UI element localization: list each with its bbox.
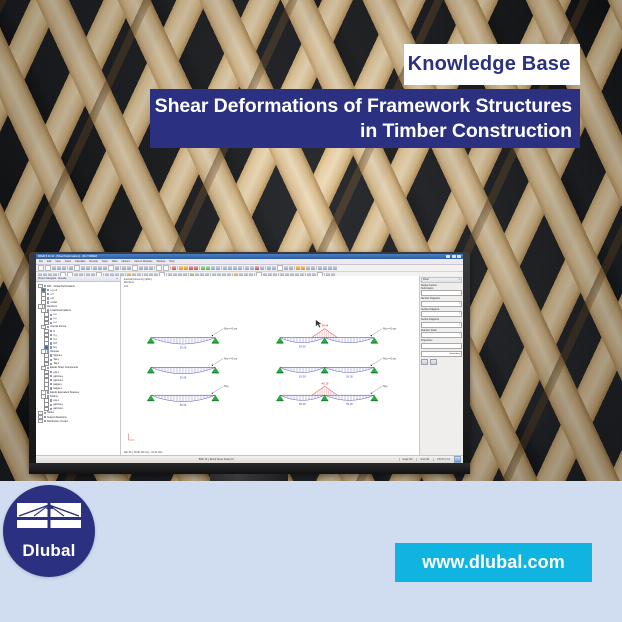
navigator-node-label: u-z bbox=[53, 321, 56, 324]
poster-root: Knowledge Base Shear Deformations of Fra… bbox=[0, 0, 622, 622]
leader-dot bbox=[212, 335, 213, 336]
navigator-node-label: u-total bbox=[50, 301, 57, 304]
support-base bbox=[147, 400, 154, 401]
panel-group: Projections bbox=[421, 340, 462, 349]
toolbar-icon-36[interactable] bbox=[211, 266, 215, 270]
navigator-node-label: Tau-y bbox=[53, 358, 59, 361]
toolbar-icon-6[interactable] bbox=[69, 266, 73, 270]
navigator-node-label: M-y bbox=[53, 346, 57, 349]
navigator-node-label: eps-x bbox=[53, 371, 59, 374]
tree-checkbox[interactable] bbox=[44, 407, 49, 412]
moment-value-label: 59.38 bbox=[346, 402, 353, 406]
toolbar-separator bbox=[243, 266, 244, 270]
moment-value-label: 59.38 bbox=[346, 374, 353, 378]
results-panel-groups[interactable]: Display FactorsDeformationMember Diagram… bbox=[421, 283, 462, 357]
navigator-node-label: V-z bbox=[53, 338, 56, 341]
work-area-scale-note: Max M-y: 59.38, Min M-y: -34.44 kNm bbox=[124, 452, 162, 454]
toolbar-icon-white-25[interactable] bbox=[163, 265, 169, 271]
toolbar-icon-57[interactable] bbox=[306, 266, 310, 270]
support-base bbox=[276, 372, 283, 373]
results-panel[interactable]: Panel × Display FactorsDeformationMember… bbox=[419, 276, 463, 456]
tree-item-icon bbox=[50, 338, 52, 340]
page-title: Shear Deformations of Framework Structur… bbox=[150, 89, 580, 148]
dlubal-logo-text: Dlubal bbox=[3, 541, 95, 561]
diagram-label: M-y bbox=[224, 384, 229, 388]
leader-line bbox=[371, 358, 382, 365]
app-body: Project Navigator - Results ▪▪ -RF1 - Gl… bbox=[36, 276, 463, 456]
leader-dot bbox=[371, 335, 372, 336]
panel-group: Smoothing bbox=[421, 351, 462, 357]
toolbar-icon-white-0[interactable] bbox=[38, 265, 44, 271]
toolbar-icon-13[interactable] bbox=[103, 266, 107, 270]
moment-value-label: 59.38 bbox=[180, 375, 187, 379]
navigator-node-label: gamma-z bbox=[53, 407, 63, 410]
navigator-node-label: Members bbox=[47, 305, 57, 308]
navigator-node-label: kappa-y bbox=[53, 383, 62, 386]
diagram-row: 59.38M-y = 0 cm-34.4459.38M-y = 0 cm bbox=[147, 324, 396, 350]
navigator-node-label: u-x bbox=[53, 313, 56, 316]
toolbar-icon-orange-56[interactable] bbox=[301, 266, 305, 270]
results-panel-title: Panel bbox=[423, 279, 429, 281]
moment-value-label: 59.38 bbox=[299, 402, 306, 406]
tree-item-icon bbox=[50, 387, 52, 389]
toolbar-icon-15[interactable] bbox=[115, 266, 119, 270]
tree-item-icon bbox=[50, 322, 52, 324]
status-cell-0: Snap ON bbox=[399, 458, 413, 461]
leader-line bbox=[371, 386, 382, 393]
toolbar-separator bbox=[170, 266, 171, 270]
tree-item-icon bbox=[50, 314, 52, 316]
toolbar-icon-white-24[interactable] bbox=[156, 265, 162, 271]
toolbar-separator bbox=[316, 266, 317, 270]
panel-group-field[interactable]: 1 bbox=[421, 322, 462, 328]
support-base bbox=[276, 400, 283, 401]
toolbar-icon-white-19[interactable] bbox=[132, 265, 138, 271]
tree-item-icon bbox=[50, 408, 52, 410]
menu-item-view[interactable]: View bbox=[55, 260, 60, 263]
navigator-node-label: u | u-X bbox=[50, 289, 57, 292]
toolbar-icon-61[interactable] bbox=[323, 266, 327, 270]
support-base bbox=[371, 400, 378, 401]
navigator-node-label: Strains bbox=[50, 395, 57, 398]
tree-item-icon bbox=[44, 412, 46, 414]
page-title-line-1: Shear Deformations of Framework Structur… bbox=[155, 94, 572, 119]
rfem-application: RFEM 5.31.01 - [Shear Deformations] - [R… bbox=[36, 254, 463, 463]
moment-diagrams: 59.38M-y = 0 cm-34.4459.38M-y = 0 cm59.3… bbox=[121, 276, 419, 425]
navigator-node-label: RF1 - Global Deformations bbox=[47, 285, 75, 288]
navigator-node-label: Local Deformations bbox=[50, 309, 71, 312]
tree-item-icon bbox=[50, 399, 52, 401]
menu-item-file[interactable]: File bbox=[39, 260, 43, 263]
status-bar: BMF: M-y [kNm] Shear Scale 0.0 Snap ON G… bbox=[36, 455, 463, 463]
navigator-node-label: Elastic Strain Components bbox=[50, 366, 78, 369]
navigator-node-label: gamma-y bbox=[53, 375, 63, 378]
toolbar-icon-18[interactable] bbox=[127, 266, 131, 270]
menu-item-help[interactable]: Help bbox=[169, 260, 174, 263]
toolbar-icon-4[interactable] bbox=[62, 266, 66, 270]
tree-item-icon bbox=[50, 379, 52, 381]
panel-group: Display FactorsDeformation bbox=[421, 285, 462, 296]
navigator-node[interactable]: -Distribution of Load bbox=[38, 419, 119, 423]
knowledge-base-label: Knowledge Base bbox=[408, 53, 571, 76]
tree-item-icon bbox=[50, 346, 52, 348]
moment-value-label: 59.38 bbox=[299, 374, 306, 378]
work-area[interactable]: Internal Forces M-y [kNm] Members LC1 59… bbox=[121, 276, 419, 456]
toolbar-icon-white-14[interactable] bbox=[108, 265, 114, 271]
window-controls[interactable] bbox=[446, 255, 461, 258]
support-base bbox=[321, 372, 328, 373]
leader-dot bbox=[371, 365, 372, 366]
toolbar-icon-orange-30[interactable] bbox=[184, 266, 188, 270]
leader-dot bbox=[212, 365, 213, 366]
toolbar-separator bbox=[154, 266, 155, 270]
navigator-node-label: Support Reactions bbox=[47, 416, 67, 419]
panel-group: Reaction Strain1 bbox=[421, 330, 462, 339]
monitor-screen: RFEM 5.31.01 - [Shear Deformations] - [R… bbox=[36, 254, 463, 463]
menu-item-insert[interactable]: Insert bbox=[65, 260, 71, 263]
maximize-icon[interactable] bbox=[452, 255, 456, 258]
support-base bbox=[371, 343, 378, 344]
panel-group-field[interactable] bbox=[421, 343, 462, 349]
navigator-node-label: N bbox=[53, 330, 55, 333]
minimize-icon[interactable] bbox=[446, 255, 450, 258]
toolbar-icon-21[interactable] bbox=[144, 266, 148, 270]
status-printer-icon[interactable] bbox=[454, 456, 461, 463]
toolbar-icon-53[interactable] bbox=[289, 266, 293, 270]
toolbar-icon-red-46[interactable] bbox=[255, 266, 259, 270]
toolbar-icon-green-35[interactable] bbox=[206, 266, 210, 270]
leader-line bbox=[371, 329, 382, 336]
toolbar-icon-22[interactable] bbox=[149, 266, 153, 270]
close-icon[interactable] bbox=[457, 255, 461, 258]
tree-item-icon bbox=[44, 416, 46, 418]
status-cell-2: CSYS X,Y,Z bbox=[433, 458, 450, 461]
tree-item-icon bbox=[50, 375, 52, 377]
menu-item-results[interactable]: Results bbox=[89, 260, 97, 263]
panel-group-field[interactable]: 1 bbox=[421, 301, 462, 307]
panel-group: Surface Diagrams1 bbox=[421, 309, 462, 318]
toolbar-icon-37[interactable] bbox=[216, 266, 220, 270]
support-base bbox=[321, 400, 328, 401]
toolbar-icon-red-27[interactable] bbox=[172, 266, 176, 270]
navigator-node-label: u-Z bbox=[50, 297, 54, 300]
toolbar-icon-12[interactable] bbox=[98, 266, 102, 270]
toolbar-primary[interactable] bbox=[36, 265, 463, 272]
menu-item-options[interactable]: Options bbox=[122, 260, 131, 263]
tree-item-icon bbox=[50, 330, 52, 332]
moment-curve bbox=[151, 338, 216, 344]
moment-curve bbox=[151, 395, 216, 401]
diagram-label: M-y = 0 cm bbox=[224, 327, 237, 331]
navigator-node-label: gamma-z bbox=[53, 379, 63, 382]
website-banner[interactable]: www.dlubal.com bbox=[395, 543, 592, 582]
toolbar-icon-40[interactable] bbox=[228, 266, 232, 270]
toolbar-icon-52[interactable] bbox=[284, 266, 288, 270]
toolbar-icon-11[interactable] bbox=[93, 266, 97, 270]
toolbar-icon-62[interactable] bbox=[328, 266, 332, 270]
support-base bbox=[321, 343, 328, 344]
moment-curve bbox=[151, 367, 216, 373]
moment-value-label: 59.38 bbox=[299, 345, 306, 349]
navigator-node-label: u-y bbox=[53, 317, 56, 320]
toolbar-separator bbox=[67, 266, 68, 270]
leader-line bbox=[212, 329, 223, 336]
navigator-node-label: gamma-y bbox=[53, 403, 63, 406]
menu-item-calculate[interactable]: Calculate bbox=[75, 260, 85, 263]
panel-group: Section Diagrams1 bbox=[421, 319, 462, 328]
toolbar-icon-47[interactable] bbox=[260, 266, 264, 270]
navigator-node-label: eps-x bbox=[53, 399, 59, 402]
navigator-node-label: Sigma-x bbox=[53, 354, 62, 357]
support-base bbox=[371, 372, 378, 373]
menu-item-tools[interactable]: Tools bbox=[102, 260, 108, 263]
status-center: BMF: M-y [kNm] Shear Scale 0.0 bbox=[199, 458, 234, 461]
toolbar-icon-49[interactable] bbox=[267, 266, 271, 270]
toolbar-separator bbox=[265, 266, 266, 270]
project-navigator[interactable]: Project Navigator - Results ▪▪ -RF1 - Gl… bbox=[36, 276, 121, 456]
support-base bbox=[147, 372, 154, 373]
navigator-node-label: Distribution of Load bbox=[47, 420, 68, 423]
support-base bbox=[212, 372, 219, 373]
tree-item-icon bbox=[50, 371, 52, 373]
diagram-label: M-y = 0 cm bbox=[383, 327, 396, 331]
toolbar-icon-20[interactable] bbox=[139, 266, 143, 270]
toolbar-separator bbox=[294, 266, 295, 270]
leader-line bbox=[212, 386, 223, 393]
navigator-pin-icon[interactable]: ▪▪ bbox=[116, 277, 118, 280]
leader-dot bbox=[371, 393, 372, 394]
toolbar-icon-orange-29[interactable] bbox=[179, 266, 183, 270]
toolbar-icon-41[interactable] bbox=[233, 266, 237, 270]
toolbar-icon-63[interactable] bbox=[333, 266, 337, 270]
toolbar-icon-60[interactable] bbox=[318, 266, 322, 270]
toolbar-icon-9[interactable] bbox=[86, 266, 90, 270]
results-panel-close-icon[interactable]: × bbox=[459, 279, 460, 281]
toolbar-icon-58[interactable] bbox=[311, 266, 315, 270]
navigator-title: Project Navigator - Results bbox=[38, 277, 66, 280]
tree-item-icon bbox=[50, 363, 52, 365]
tree-item-icon bbox=[50, 383, 52, 385]
toolbar-icon-red-32[interactable] bbox=[194, 266, 198, 270]
tree-item-icon bbox=[47, 301, 49, 303]
toolbar-separator bbox=[91, 266, 92, 270]
support-base bbox=[212, 343, 219, 344]
coordinate-axis-icon bbox=[127, 432, 137, 442]
toolbar-icon-2[interactable] bbox=[52, 266, 56, 270]
diagram-row: 59.38M-y-45.1959.3859.38M-y bbox=[147, 381, 388, 407]
toolbar-icon-white-1[interactable] bbox=[45, 265, 51, 271]
navigator-node-label: Elastic Equivalent Stresses bbox=[50, 391, 79, 394]
page-title-line-2: in Timber Construction bbox=[360, 119, 572, 144]
toolbar-icon-39[interactable] bbox=[223, 266, 227, 270]
toolbar-separator bbox=[120, 266, 121, 270]
panel-group-field[interactable]: 1 bbox=[421, 311, 462, 317]
diagram-label: M-y bbox=[383, 384, 388, 388]
tree-item-icon bbox=[50, 354, 52, 356]
tree-item-icon bbox=[47, 293, 49, 295]
toolbar-icon-red-31[interactable] bbox=[189, 266, 193, 270]
website-url: www.dlubal.com bbox=[422, 552, 565, 573]
toolbar-icon-3[interactable] bbox=[57, 266, 61, 270]
navigator-node-label: u-Y bbox=[50, 293, 54, 296]
status-cell-1: Grid ON bbox=[416, 458, 429, 461]
toolbar-icon-45[interactable] bbox=[250, 266, 254, 270]
menu-item-edit[interactable]: Edit bbox=[47, 260, 51, 263]
diagram-label: M-y = 0 cm bbox=[383, 356, 396, 360]
tree-item-icon bbox=[50, 334, 52, 336]
navigator-node-label: Stresses bbox=[50, 350, 59, 353]
toolbar-icon-white-51[interactable] bbox=[277, 265, 283, 271]
toolbar-separator bbox=[221, 266, 222, 270]
truss-icon bbox=[17, 503, 81, 537]
toolbar-icon-42[interactable] bbox=[238, 266, 242, 270]
tree-item-icon bbox=[50, 404, 52, 406]
toolbar-icon-17[interactable] bbox=[122, 266, 126, 270]
support-base bbox=[276, 343, 283, 344]
monitor-chin bbox=[29, 463, 470, 474]
menu-item-add-on-modules[interactable]: Add-on Modules bbox=[134, 260, 152, 263]
navigator-node-label: Internal Forces bbox=[50, 325, 66, 328]
support-base bbox=[212, 400, 219, 401]
support-base bbox=[147, 343, 154, 344]
navigator-tree[interactable]: -RF1 - Global Deformationsu | u-Xu-Yu-Zu… bbox=[36, 282, 120, 456]
tree-item-icon bbox=[50, 318, 52, 320]
panel-group-field[interactable]: Smoothing bbox=[421, 351, 462, 357]
menu-item-window[interactable]: Window bbox=[156, 260, 165, 263]
toolbar-icon-8[interactable] bbox=[81, 266, 85, 270]
moment-peak-label: -45.19 bbox=[321, 381, 329, 385]
app-window-title: RFEM 5.31.01 - [Shear Deformations] - [R… bbox=[38, 255, 444, 258]
panel-group-field[interactable] bbox=[421, 290, 462, 296]
toolbar-separator bbox=[177, 266, 178, 270]
dlubal-logo[interactable]: Dlubal bbox=[3, 485, 95, 577]
panel-settings-icon[interactable] bbox=[430, 359, 437, 365]
tree-item-icon bbox=[44, 420, 46, 422]
toolbar-icon-44[interactable] bbox=[245, 266, 249, 270]
knowledge-base-badge: Knowledge Base bbox=[404, 44, 580, 85]
tree-item-icon bbox=[47, 289, 49, 291]
navigator-node-label: kappa-z bbox=[53, 387, 62, 390]
panel-group: Member Diagrams1 bbox=[421, 298, 462, 307]
toolbar-icon-orange-55[interactable] bbox=[296, 266, 300, 270]
moment-peak-label: -34.44 bbox=[321, 324, 329, 328]
navigator-node-label: V-y bbox=[53, 334, 56, 337]
menu-item-table[interactable]: Table bbox=[112, 260, 118, 263]
moment-value-label: 59.38 bbox=[180, 403, 187, 407]
toolbar-separator bbox=[199, 266, 200, 270]
diagram-row: 59.38M-y = 0 cm59.3859.38M-y = 0 cm bbox=[147, 356, 396, 379]
toolbar-icon-white-7[interactable] bbox=[74, 265, 80, 271]
navigator-node-label: M-T bbox=[53, 342, 57, 345]
tree-item-icon bbox=[47, 297, 49, 299]
navigator-node-label: Nodes bbox=[47, 411, 54, 414]
tree-item-icon bbox=[50, 342, 52, 344]
panel-group-field[interactable]: 1 bbox=[421, 332, 462, 338]
navigator-node-label: Tau-z bbox=[53, 362, 59, 365]
tree-item-icon bbox=[47, 391, 49, 393]
diagram-label: M-y = 0 cm bbox=[224, 356, 237, 360]
leader-dot bbox=[212, 393, 213, 394]
tree-item-icon bbox=[50, 359, 52, 361]
moment-value-label: 59.38 bbox=[180, 346, 187, 350]
tree-expander-icon[interactable]: - bbox=[38, 419, 43, 424]
results-panel-buttons[interactable] bbox=[421, 359, 462, 365]
toolbar-icon-50[interactable] bbox=[272, 266, 276, 270]
panel-apply-icon[interactable] bbox=[421, 359, 428, 365]
toolbar-icon-green-34[interactable] bbox=[201, 266, 205, 270]
monitor: RFEM 5.31.01 - [Shear Deformations] - [R… bbox=[29, 252, 470, 492]
leader-line bbox=[212, 358, 223, 365]
